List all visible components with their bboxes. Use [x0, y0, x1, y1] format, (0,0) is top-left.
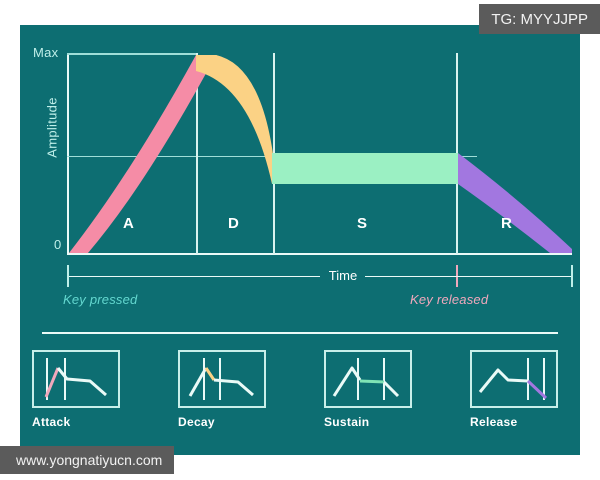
- thumbnail-sustain-graph: [326, 352, 410, 406]
- key-pressed-label: Key pressed: [63, 292, 137, 307]
- thumbnail-attack-graph: [34, 352, 118, 406]
- thumbnail-attack[interactable]: Attack: [32, 350, 122, 429]
- url-watermark: www.yongnatiyucn.com: [0, 446, 174, 474]
- thumbnail-sustain-label: Sustain: [324, 415, 414, 429]
- segment-letter-decay: D: [228, 215, 239, 232]
- time-axis: Time Key pressed Key released: [20, 265, 580, 325]
- time-line-right: [365, 276, 571, 277]
- time-axis-label: Time: [320, 268, 366, 283]
- key-released-label: Key released: [410, 292, 488, 307]
- thumbnail-sustain-box: [324, 350, 412, 408]
- segment-letter-release: R: [501, 215, 512, 232]
- tick-axis-end: [571, 265, 573, 287]
- time-line-left: [69, 276, 320, 277]
- thumbnail-decay-graph: [180, 352, 264, 406]
- thumbnail-release-label: Release: [470, 415, 560, 429]
- thumbnail-decay-box: [178, 350, 266, 408]
- thumbnail-release-box: [470, 350, 558, 408]
- stage-thumbnail-row: Attack Decay: [20, 350, 580, 455]
- thumbnail-attack-box: [32, 350, 120, 408]
- segment-letter-sustain: S: [357, 215, 368, 232]
- attack-band: [69, 55, 216, 253]
- thumbnail-release[interactable]: Release: [470, 350, 560, 429]
- adsr-diagram-panel: Max 0 Amplitude A D: [20, 25, 580, 455]
- section-divider: [42, 332, 558, 334]
- screenshot-root: Max 0 Amplitude A D: [0, 0, 600, 480]
- release-band: [458, 153, 572, 253]
- thumbnail-attack-label: Attack: [32, 415, 122, 429]
- thumbnail-sustain[interactable]: Sustain: [324, 350, 414, 429]
- segment-letter-attack: A: [123, 215, 134, 232]
- sustain-band: [272, 153, 458, 184]
- thumbnail-decay-label: Decay: [178, 415, 268, 429]
- thumbnail-decay[interactable]: Decay: [178, 350, 268, 429]
- thumbnail-release-graph: [472, 352, 556, 406]
- telegram-watermark: TG: MYYJJPP: [479, 4, 600, 34]
